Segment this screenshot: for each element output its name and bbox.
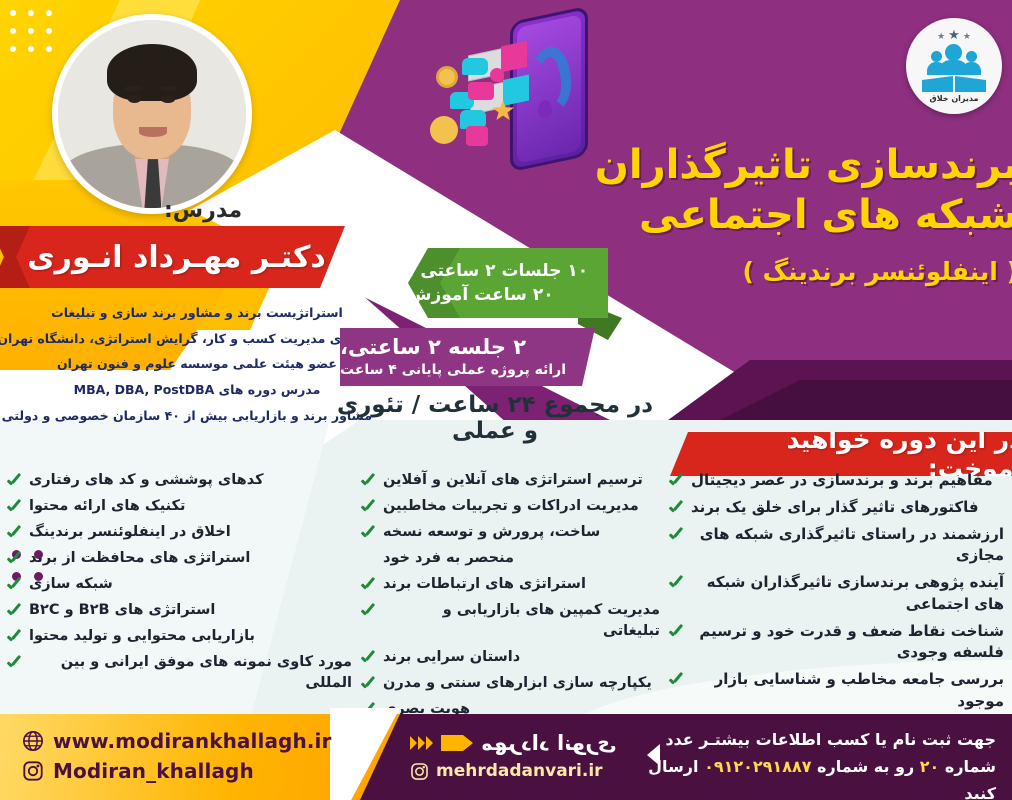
cta-line-1: جهت ثبت نام یا کسب اطلاعات بیشتـر عدد [646,726,996,753]
list-item: مورد کاوی نمونه های موفق ایرانی و بین ال… [6,652,352,694]
check-icon [6,500,22,516]
green-ribbon-line-2: ۲۰ ساعت آموزش [408,283,554,307]
instructor-name: دکتـر مهـرداد انـوری [0,226,345,288]
instagram-icon [22,760,44,782]
check-icon [360,474,376,490]
list-item: آینده پژوهی برندسازی تاثیرگذاران شبکه ها… [668,572,1004,616]
purple-ribbon-line-1: ۲ جلسه ۲ ساعتی، [340,334,526,360]
purple-ribbon-line-2: ارائه پروژه عملی پایانی ۴ ساعت [340,361,566,380]
check-icon [360,500,376,516]
list-item-label: تکنیک های ارائه محتوا [29,496,185,517]
list-item: استراتژی های B۲B و B۲C [6,600,352,621]
check-icon [360,677,376,693]
check-icon [668,625,684,641]
check-icon [668,528,684,544]
instructor-photo [58,20,246,208]
list-item-label: بررسی جامعه مخاطب و شناسایی بازار موجود [691,669,1004,713]
list-item-label: ارزشمند در راستای تاثیرگذاری شبکه های مج… [691,524,1004,568]
list-item: استراتژی های ارتباطات برند [360,574,660,595]
star-icon: ★ [948,29,960,42]
list-item-label: مورد کاوی نمونه های موفق ایرانی و بین ال… [29,652,352,694]
check-icon [6,474,22,490]
learn-column-left: کدهای پوششی و کد های رفتاری تکنیک های ار… [6,470,352,699]
mehrdad-anvari-logo: مهرداد انوری [410,728,660,758]
check-icon [6,552,22,568]
cta-middle: رو به شماره [811,757,919,776]
list-item: شبکه سازی [6,574,352,595]
headline-line-2: شبکه های اجتماعی [548,190,1012,240]
check-icon [668,576,684,592]
list-item: فاکتورهای تاثیر گذار برای خلق یک برند [668,497,1004,519]
website-row[interactable]: www.modirankhallagh.ir [22,726,382,756]
list-item: اخلاق در اینفلوئنسر برندینگ [6,522,352,543]
list-item-label: شناخت نقاط ضعف و قدرت خود و ترسیم فلسفه … [691,621,1004,665]
list-item: بازاریابی محتوایی و تولید محتوا [6,626,352,647]
instructor-avatar [52,14,252,214]
headline-subtitle: ( اینفلوئنسر برندینگ ) [548,257,1012,286]
purple-session-ribbon: ۲ جلسه ۲ ساعتی، ارائه پروژه عملی پایانی … [340,328,595,386]
logo-stars: ★ ★ ★ [937,29,971,42]
photo-card-icon [466,126,488,146]
learn-column-middle: ترسیم استراتژی های آنلاین و آفلاین مدیری… [360,470,660,725]
list-item: ساخت، پرورش و توسعه نسخه [360,522,660,543]
list-item: ترسیم استراتژی های آنلاین و آفلاین [360,470,660,491]
poster-footer: www.modirankhallagh.ir Modiran_khallagh … [0,714,1012,800]
check-icon [360,604,376,620]
footer-cta: جهت ثبت نام یا کسب اطلاعات بیشتـر عدد شم… [646,726,996,800]
chevron-right-icon [410,736,433,750]
logo-name: مدیران خلاق [930,94,979,103]
list-item-label: مدیریت ادراکات و تجربیات مخاطبین [383,496,639,517]
cta-phone-number: ۰۹۱۲۰۲۹۱۸۸۷ [704,757,811,776]
poster-headline: برندسازی تاثیرگذاران شبکه های اجتماعی ( … [548,140,1012,286]
list-item: مدیریت ادراکات و تجربیات مخاطبین [360,496,660,517]
list-item: تکنیک های ارائه محتوا [6,496,352,517]
list-item: استراتژی های محافظت از برند [6,548,352,569]
list-item-label: بازاریابی محتوایی و تولید محتوا [29,626,255,647]
poster-root: ★ ★ ★ مدیران خلاق [0,0,1012,800]
list-item-label: اخلاق در اینفلوئنسر برندینگ [29,522,231,543]
check-icon [6,656,22,672]
website-url: www.modirankhallagh.ir [53,729,331,753]
list-item-label: مدیریت کمپین های بازاریابی و تبلیغاتی [383,600,660,642]
check-icon [360,578,376,594]
list-item-label: منحصر به فرد خود [383,548,514,569]
instagram-org-row[interactable]: Modiran_khallagh [22,756,382,786]
credential-item: عضو هیئت علمی موسسه علوم و فنون تهران [22,351,372,377]
check-icon [6,604,22,620]
instagram-person-row[interactable]: mehrdadanvari.ir [410,761,660,781]
instagram-icon [410,762,429,781]
pin-icon [538,100,552,118]
cta-line-2: شماره ۲۰ رو به شماره ۰۹۱۲۰۲۹۱۸۸۷ ارسال ک… [646,753,996,800]
instructor-label: مدرس: [164,198,284,223]
headline-line-1: برندسازی تاثیرگذاران [548,140,1012,190]
list-item: ارزشمند در راستای تاثیرگذاری شبکه های مج… [668,524,1004,568]
list-item-label: استراتژی های B۲B و B۲C [29,600,215,621]
heart-icon [490,68,504,82]
chat-bubble-icon [462,58,488,75]
check-icon [360,526,376,542]
list-item-label: شبکه سازی [29,574,113,595]
green-ribbon-line-1: ۱۰ جلسات ۲ ساعتی ، [408,259,588,283]
credential-item: مشاور برند و بازاریابی بیش از ۴۰ سازمان … [22,403,372,429]
check-icon [6,526,22,542]
list-item-label: استراتژی های ارتباطات برند [383,574,586,595]
list-item: منحصر به فرد خود [360,548,660,569]
credential-item: مدرس دوره های MBA, DBA, PostDBA [22,377,372,403]
emoji-icon [436,66,458,88]
logo-people-icon [925,43,983,75]
credential-item: استراتژیست برند و مشاور برند سازی و تبلی… [22,300,372,326]
list-item: مدیریت کمپین های بازاریابی و تبلیغاتی [360,600,660,642]
star-icon: ★ [937,33,945,42]
check-icon [6,630,22,646]
list-item: بررسی جامعه مخاطب و شناسایی بازار موجود [668,669,1004,713]
green-session-ribbon: ۱۰ جلسات ۲ ساعتی ، ۲۰ ساعت آموزش [408,248,608,318]
list-item-label: یکپارچه سازی ابزارهای سنتی و مدرن [383,673,652,694]
smiley-icon [430,116,458,144]
credential-item: دکترای مدیریت کسب و کار، گرایش استراتژی،… [22,326,372,352]
list-item: داستان سرایی برند [360,647,660,668]
list-item-label: داستان سرایی برند [383,647,520,668]
instructor-credentials: استراتژیست برند و مشاور برند سازی و تبلی… [22,300,372,428]
check-icon [668,501,684,517]
check-icon [668,474,684,490]
list-item: مفاهیم برند و برندسازی در عصر دیجیتال [668,470,1004,492]
organization-logo: ★ ★ ★ مدیران خلاق [906,18,1002,114]
list-item-label: ترسیم استراتژی های آنلاین و آفلاین [383,470,643,491]
list-item-label: استراتژی های محافظت از برند [29,548,250,569]
instagram-person-handle: mehrdadanvari.ir [436,761,603,781]
star-icon: ★ [963,33,971,42]
footer-contact-left: www.modirankhallagh.ir Modiran_khallagh [22,726,382,786]
globe-icon [22,730,44,752]
list-item-label: مفاهیم برند و برندسازی در عصر دیجیتال [691,470,993,492]
brand-name: مهرداد انوری [481,731,617,755]
cta-code-number: ۲۰ [920,757,940,776]
instructor-name-banner: دکتـر مهـرداد انـوری [0,226,345,288]
list-item-label: فاکتورهای تاثیر گذار برای خلق یک برند [691,497,979,519]
list-item-label: آینده پژوهی برندسازی تاثیرگذاران شبکه ها… [691,572,1004,616]
check-icon [668,673,684,689]
list-item-label: کدهای پوششی و کد های رفتاری [29,470,264,491]
instagram-org-handle: Modiran_khallagh [53,759,254,783]
check-icon [360,651,376,667]
total-hours-text: در مجموع ۲۴ ساعت / تئوری و عملی [330,392,660,444]
list-item-label: ساخت، پرورش و توسعه نسخه [383,522,600,543]
footer-personal-brand: مهرداد انوری mehrdadanvari.ir [410,728,660,781]
list-item: شناخت نقاط ضعف و قدرت خود و ترسیم فلسفه … [668,621,1004,665]
photo-card-icon [468,82,494,100]
logo-tag-shape [441,735,473,751]
cta-prefix: شماره [939,757,996,776]
list-item: کدهای پوششی و کد های رفتاری [6,470,352,491]
list-item: یکپارچه سازی ابزارهای سنتی و مدرن [360,673,660,694]
check-icon [6,578,22,594]
logo-book-icon [922,76,986,92]
